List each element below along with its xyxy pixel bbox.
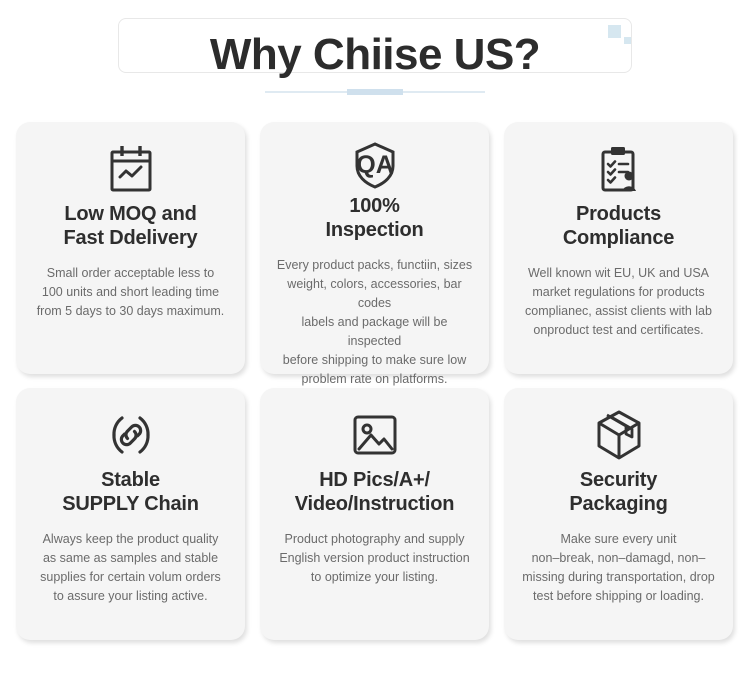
card-title: Products Compliance — [563, 202, 674, 250]
feature-card-grid: Low MOQ and Fast Ddelivery Small order a… — [16, 122, 735, 640]
underline-thick-bar — [347, 89, 403, 95]
card-title: 100% Inspection — [325, 194, 423, 242]
card-body: Every product packs, functiin, sizes wei… — [274, 256, 475, 389]
card-title: Low MOQ and Fast Ddelivery — [64, 202, 198, 250]
calendar-chart-icon — [108, 140, 154, 198]
clipboard-stamp-icon — [595, 140, 643, 198]
card-title: Stable SUPPLY Chain — [62, 468, 199, 516]
card-title: HD Pics/A+/ Video/Instruction — [295, 468, 455, 516]
card-body: Always keep the product quality as same … — [40, 530, 221, 606]
page-header: Why Chiise US? — [0, 0, 750, 112]
qa-shield-icon: QA — [349, 140, 401, 190]
feature-card-security-packaging[interactable]: Security Packaging Make sure every unit … — [504, 388, 733, 640]
feature-card-compliance[interactable]: Products Compliance Well known wit EU, U… — [504, 122, 733, 374]
svg-text:QA: QA — [356, 151, 394, 179]
chain-link-icon — [106, 406, 156, 464]
card-title: Security Packaging — [569, 468, 667, 516]
feature-card-hd-pics[interactable]: HD Pics/A+/ Video/Instruction Product ph… — [260, 388, 489, 640]
feature-card-low-moq[interactable]: Low MOQ and Fast Ddelivery Small order a… — [16, 122, 245, 374]
feature-card-inspection[interactable]: QA 100% Inspection Every product packs, … — [260, 122, 489, 374]
card-body: Well known wit EU, UK and USA market reg… — [525, 264, 712, 340]
card-body: Make sure every unit non–break, non–dama… — [522, 530, 714, 606]
card-body: Small order acceptable less to 100 units… — [37, 264, 225, 321]
image-photo-icon — [350, 406, 400, 464]
package-box-icon — [594, 406, 644, 464]
card-body: Product photography and supply English v… — [279, 530, 469, 587]
title-underline — [0, 88, 750, 96]
feature-card-supply-chain[interactable]: Stable SUPPLY Chain Always keep the prod… — [16, 388, 245, 640]
page-title: Why Chiise US? — [0, 26, 750, 84]
